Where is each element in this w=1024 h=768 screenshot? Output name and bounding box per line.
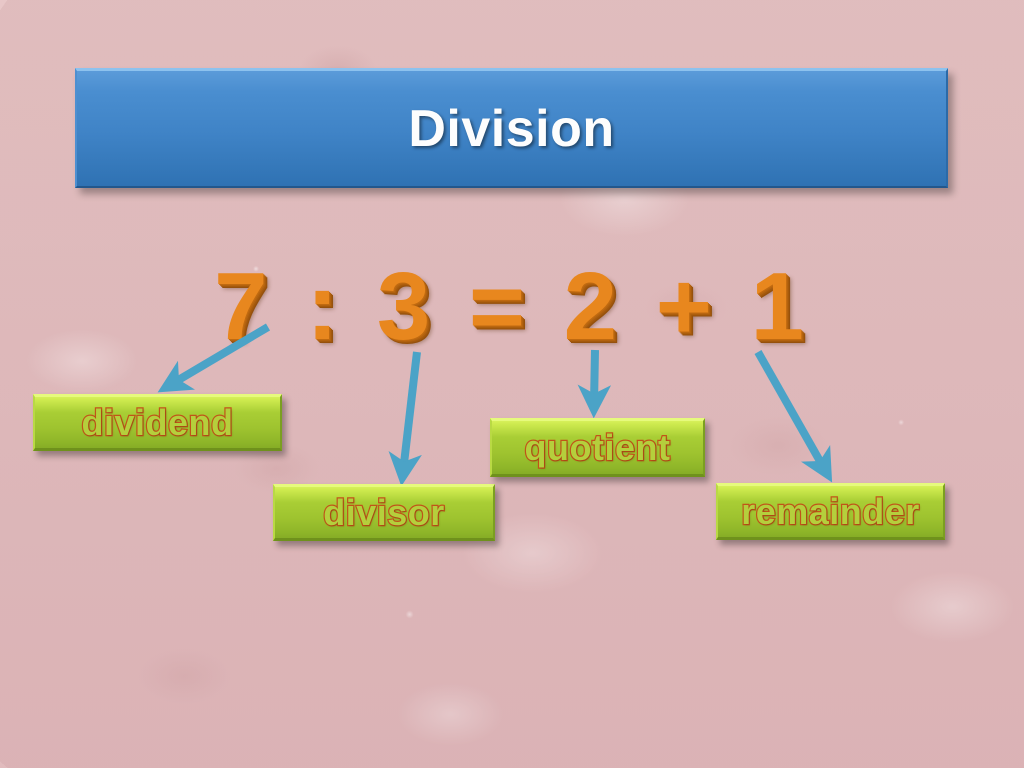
label-text-remainder: remainder [741,491,920,533]
label-box-divisor: divisor [273,484,495,541]
slide-canvas: Division 7 : 3 = 2 + 1 dividend divisor … [0,0,1024,768]
label-box-remainder: remainder [716,483,945,540]
label-box-quotient: quotient [490,418,705,477]
equation-text: 7 : 3 = 2 + 1 [0,252,1024,362]
arrow-to-remainder [758,352,825,470]
title-banner: Division [75,68,948,188]
arrow-to-divisor [403,352,417,472]
label-text-divisor: divisor [323,492,445,534]
page-title: Division [408,99,614,159]
label-text-dividend: dividend [81,402,233,444]
label-box-dividend: dividend [33,394,282,451]
label-text-quotient: quotient [525,427,671,469]
